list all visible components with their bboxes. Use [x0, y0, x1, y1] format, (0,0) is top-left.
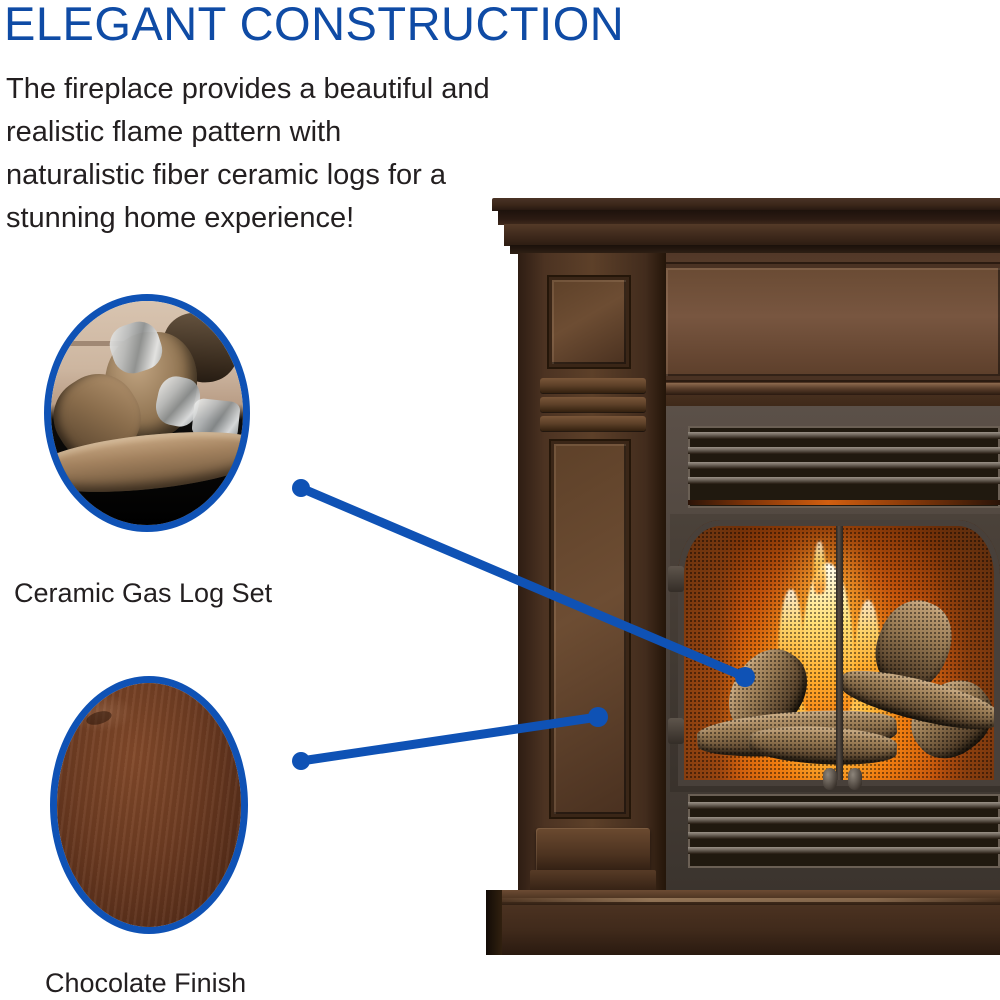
door-handle-left[interactable] — [823, 768, 837, 790]
louver-slat — [688, 817, 1000, 824]
pilaster-long-panel — [554, 444, 626, 814]
pilaster-upper-panel — [552, 280, 626, 364]
chocolate-wood-finish-swatch — [57, 683, 241, 927]
body-line-2: realistic flame pattern with — [6, 111, 596, 154]
crown-molding-bevel — [504, 224, 1000, 246]
ceramic-gas-logs-photo — [51, 301, 243, 525]
pilaster-band — [540, 416, 646, 431]
pilaster-band — [540, 378, 646, 393]
wood-grain-surface — [57, 683, 241, 927]
pilaster-band — [540, 397, 646, 412]
louver-slat — [688, 832, 1000, 839]
door-hinge[interactable] — [668, 566, 684, 592]
ember-glow-strip — [688, 500, 1000, 505]
door-handle-right[interactable] — [848, 768, 862, 790]
louver-slat — [688, 477, 1000, 484]
base-plinth — [486, 905, 1000, 955]
mantel-lip-molding — [660, 383, 1000, 395]
mantel-frieze-panel — [666, 268, 1000, 376]
upper-louver-vent — [688, 426, 1000, 508]
body-line-3: naturalistic fiber ceramic logs for a — [6, 154, 596, 197]
louver-slat — [688, 847, 1000, 854]
fireplace-product-image — [492, 198, 1000, 958]
louver-slat — [688, 447, 1000, 454]
firebox-interior — [678, 520, 1000, 786]
door-mullion — [836, 520, 843, 786]
callout-image-ceramic-gas-log-set[interactable] — [44, 294, 250, 532]
louver-slat — [688, 432, 1000, 439]
door-hinge[interactable] — [668, 718, 684, 744]
page-title: ELEGANT CONSTRUCTION — [4, 0, 624, 50]
callout-image-chocolate-finish[interactable] — [50, 676, 248, 934]
pilaster-foot-block — [536, 828, 650, 876]
louver-slat — [688, 802, 1000, 809]
lower-louver-vent — [688, 794, 1000, 868]
leader-dot-logs-start — [292, 479, 310, 497]
body-line-1: The fireplace provides a beautiful and — [6, 68, 596, 111]
louver-slat — [688, 462, 1000, 469]
crown-molding-mid — [498, 210, 1000, 225]
callout-label-ceramic-gas-log-set: Ceramic Gas Log Set — [14, 578, 272, 609]
base-plinth-left-return — [486, 890, 502, 955]
infographic-canvas: ELEGANT CONSTRUCTION The fireplace provi… — [0, 0, 1000, 1000]
callout-label-chocolate-finish: Chocolate Finish — [45, 968, 246, 999]
leader-dot-finish-start — [292, 752, 310, 770]
base-plinth-highlight — [500, 898, 1000, 902]
